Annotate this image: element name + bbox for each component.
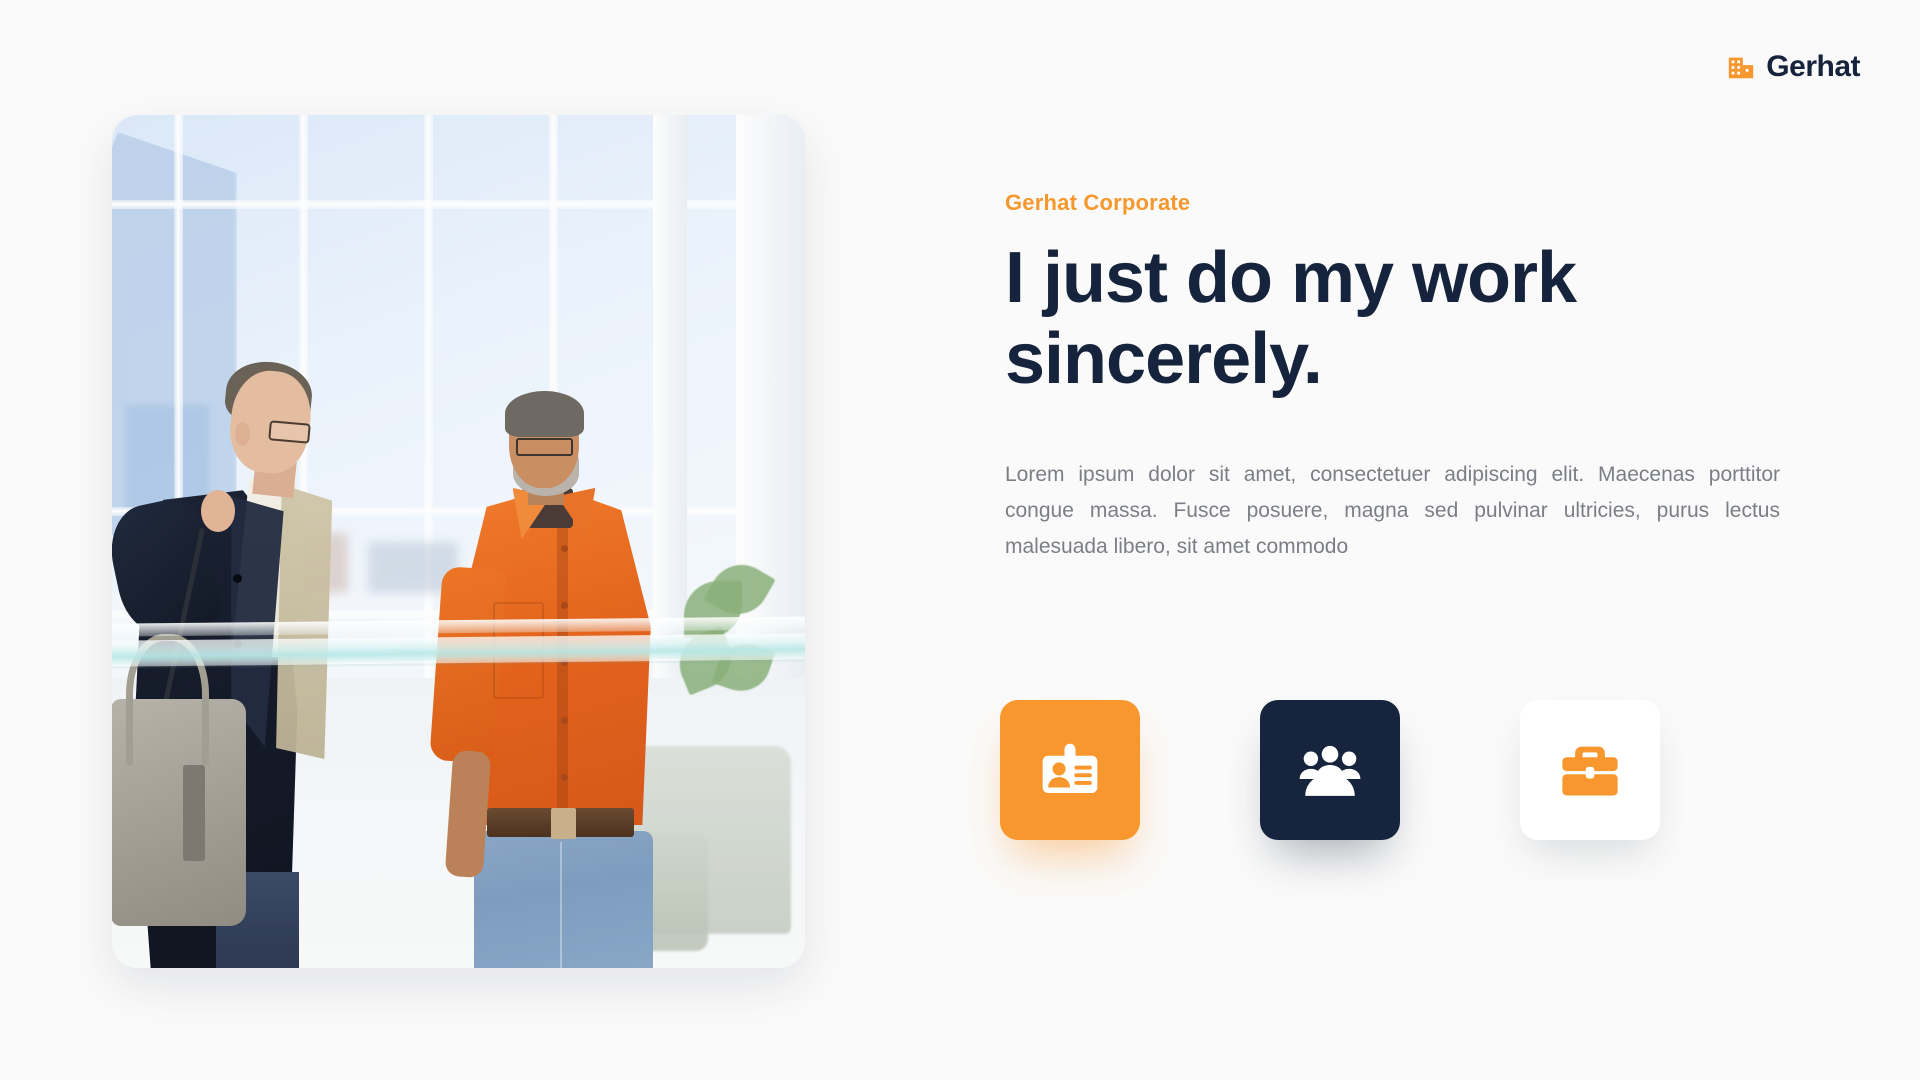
hero-body-text: Lorem ipsum dolor sit amet, consectetuer… xyxy=(1005,457,1780,565)
hero-eyebrow: Gerhat Corporate xyxy=(1005,190,1780,216)
photo-scene xyxy=(112,115,805,968)
brand-name: Gerhat xyxy=(1766,52,1860,82)
briefcase-icon xyxy=(1556,736,1624,804)
id-badge-icon xyxy=(1035,735,1105,805)
people-group-icon xyxy=(1294,734,1366,806)
card-briefcase[interactable] xyxy=(1520,700,1660,840)
feature-icon-cards xyxy=(1000,700,1660,840)
page-title: I just do my work sincerely. xyxy=(1005,238,1725,399)
card-people-group[interactable] xyxy=(1260,700,1400,840)
person-orange-shirt xyxy=(417,396,736,968)
hero-page: Gerhat xyxy=(0,0,1920,1080)
hero-photo xyxy=(112,115,805,968)
hero-content: Gerhat Corporate I just do my work since… xyxy=(1005,190,1780,566)
card-id-badge[interactable] xyxy=(1000,700,1140,840)
building-icon xyxy=(1726,52,1756,82)
window-transom xyxy=(112,200,805,209)
brand-logo[interactable]: Gerhat xyxy=(1726,52,1860,82)
